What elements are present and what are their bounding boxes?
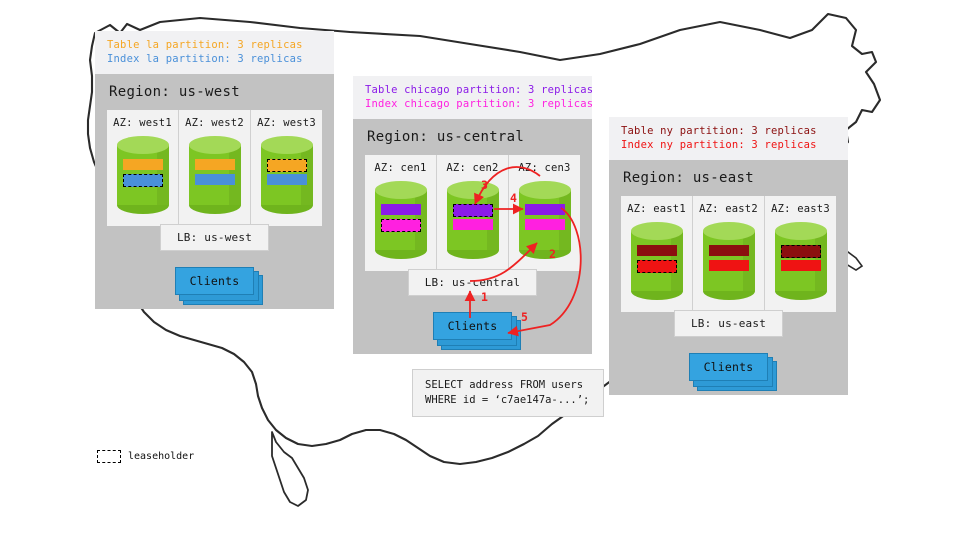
- legend-label: leaseholder: [128, 451, 194, 462]
- replica-table-ny-leaseholder: [781, 245, 821, 258]
- replica-index-chicago: [525, 219, 565, 230]
- replica-table-chicago: [381, 204, 421, 215]
- replica-blocks: [195, 159, 235, 189]
- replica-index-chicago-leaseholder: [381, 219, 421, 232]
- load-balancer-row: LB: us-west: [107, 226, 322, 251]
- index-partition-label: Index ny partition: 3 replicas: [621, 138, 838, 152]
- node-cylinder[interactable]: [703, 222, 755, 300]
- step-number-3: 3: [481, 178, 488, 192]
- az-row: AZ: west1 AZ: west2: [107, 110, 322, 226]
- replica-table-ny: [709, 245, 749, 256]
- node-cylinder[interactable]: [631, 222, 683, 300]
- replica-blocks: [709, 245, 749, 275]
- az-label: AZ: east3: [765, 203, 836, 215]
- node-cylinder[interactable]: [375, 181, 427, 259]
- az-cell-cen2[interactable]: AZ: cen2: [436, 155, 508, 271]
- step-number-5: 5: [521, 310, 528, 324]
- replica-table-chicago-leaseholder: [453, 204, 493, 217]
- region-panel-us-east: Table ny partition: 3 replicas Index ny …: [609, 117, 848, 395]
- replica-blocks: [637, 245, 677, 275]
- load-balancer-us-central[interactable]: LB: us-central: [408, 269, 538, 296]
- clients-stack-us-west[interactable]: Clients: [175, 267, 255, 295]
- replica-blocks: [267, 159, 307, 189]
- clients-label[interactable]: Clients: [689, 353, 769, 381]
- region-header-us-east: Table ny partition: 3 replicas Index ny …: [609, 117, 848, 160]
- replica-table-la-leaseholder: [267, 159, 307, 172]
- legend-leaseholder: leaseholder: [97, 450, 194, 463]
- step-number-4: 4: [510, 191, 517, 205]
- az-label: AZ: cen2: [437, 162, 508, 174]
- clients-row: Clients: [107, 267, 322, 295]
- region-panel-us-west: Table la partition: 3 replicas Index la …: [95, 31, 334, 309]
- clients-stack-us-central[interactable]: Clients: [433, 312, 513, 340]
- load-balancer-us-west[interactable]: LB: us-west: [160, 224, 269, 251]
- replica-blocks: [453, 204, 493, 234]
- az-label: AZ: west3: [251, 117, 322, 129]
- clients-row: Clients: [365, 312, 580, 340]
- replica-index-ny: [709, 260, 749, 271]
- clients-label[interactable]: Clients: [175, 267, 255, 295]
- clients-label[interactable]: Clients: [433, 312, 513, 340]
- az-cell-west2[interactable]: AZ: west2: [178, 110, 250, 226]
- node-cylinder[interactable]: [117, 136, 169, 214]
- replica-table-la: [123, 159, 163, 170]
- node-cylinder[interactable]: [261, 136, 313, 214]
- clients-row: Clients: [621, 353, 836, 381]
- replica-blocks: [123, 159, 163, 189]
- az-cell-cen1[interactable]: AZ: cen1: [365, 155, 436, 271]
- node-cylinder[interactable]: [519, 181, 571, 259]
- az-label: AZ: cen3: [509, 162, 580, 174]
- az-label: AZ: east1: [621, 203, 692, 215]
- region-title: Region: us-central: [365, 119, 580, 155]
- az-row: AZ: east1 AZ: east2: [621, 196, 836, 312]
- load-balancer-row: LB: us-central: [365, 271, 580, 296]
- replica-table-chicago: [525, 204, 565, 215]
- table-partition-label: Table chicago partition: 3 replicas: [365, 83, 582, 97]
- az-cell-east2[interactable]: AZ: east2: [692, 196, 764, 312]
- az-cell-east3[interactable]: AZ: east3: [764, 196, 836, 312]
- az-row: AZ: cen1 AZ: cen2: [365, 155, 580, 271]
- replica-blocks: [381, 204, 421, 234]
- az-label: AZ: east2: [693, 203, 764, 215]
- load-balancer-us-east[interactable]: LB: us-east: [674, 310, 783, 337]
- region-title: Region: us-west: [107, 74, 322, 110]
- az-cell-cen3[interactable]: AZ: cen3: [508, 155, 580, 271]
- region-panel-us-central: Table chicago partition: 3 replicas Inde…: [353, 76, 592, 354]
- clients-stack-us-east[interactable]: Clients: [689, 353, 769, 381]
- table-partition-label: Table ny partition: 3 replicas: [621, 124, 838, 138]
- dashed-rect-icon: [97, 450, 121, 463]
- replica-table-ny: [637, 245, 677, 256]
- replica-index-la: [195, 174, 235, 185]
- replica-index-la-leaseholder: [123, 174, 163, 187]
- sql-query-box: SELECT address FROM users WHERE id = ‘c7…: [412, 369, 604, 417]
- diagram-canvas: Table la partition: 3 replicas Index la …: [0, 0, 960, 540]
- az-label: AZ: cen1: [365, 162, 436, 174]
- node-cylinder[interactable]: [775, 222, 827, 300]
- step-number-2: 2: [549, 247, 556, 261]
- node-cylinder[interactable]: [189, 136, 241, 214]
- az-cell-east1[interactable]: AZ: east1: [621, 196, 692, 312]
- replica-index-ny-leaseholder: [637, 260, 677, 273]
- az-label: AZ: west1: [107, 117, 178, 129]
- replica-index-chicago: [453, 219, 493, 230]
- table-partition-label: Table la partition: 3 replicas: [107, 38, 324, 52]
- region-header-us-central: Table chicago partition: 3 replicas Inde…: [353, 76, 592, 119]
- az-cell-west1[interactable]: AZ: west1: [107, 110, 178, 226]
- index-partition-label: Index chicago partition: 3 replicas: [365, 97, 582, 111]
- load-balancer-row: LB: us-east: [621, 312, 836, 337]
- az-cell-west3[interactable]: AZ: west3: [250, 110, 322, 226]
- region-title: Region: us-east: [621, 160, 836, 196]
- replica-blocks: [781, 245, 821, 275]
- replica-table-la: [195, 159, 235, 170]
- node-cylinder[interactable]: [447, 181, 499, 259]
- region-header-us-west: Table la partition: 3 replicas Index la …: [95, 31, 334, 74]
- az-label: AZ: west2: [179, 117, 250, 129]
- replica-blocks: [525, 204, 565, 234]
- step-number-1: 1: [481, 290, 488, 304]
- replica-index-la: [267, 174, 307, 185]
- replica-index-ny: [781, 260, 821, 271]
- index-partition-label: Index la partition: 3 replicas: [107, 52, 324, 66]
